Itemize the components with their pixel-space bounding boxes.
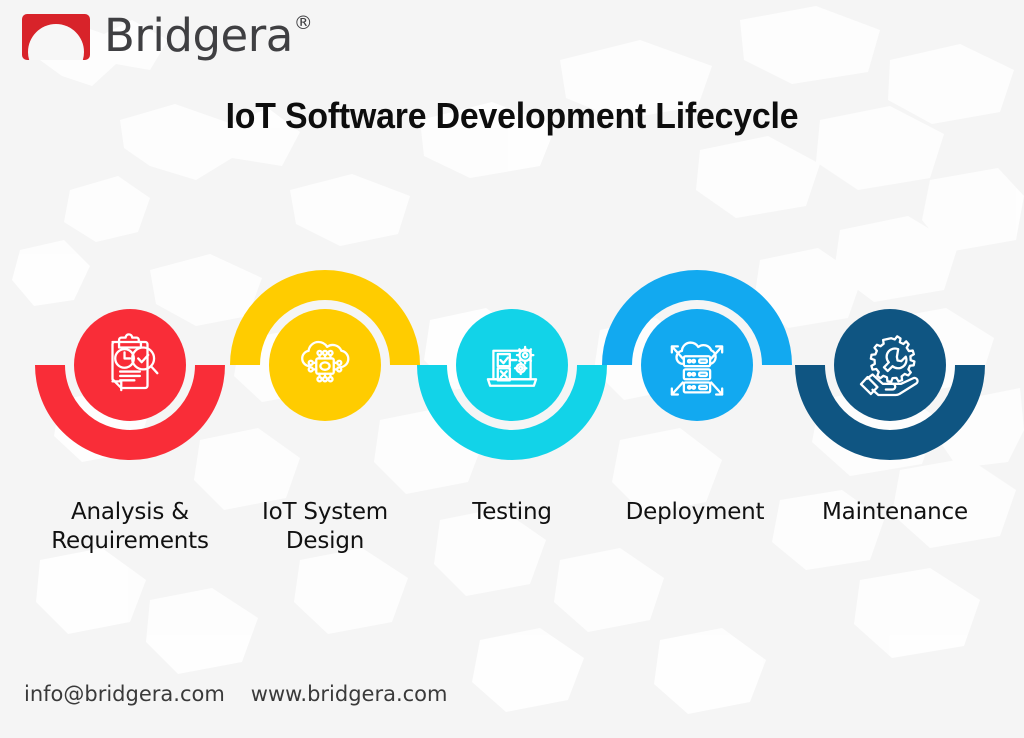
- cloud-server-arrows-icon: [662, 330, 732, 400]
- stage-label-testing-line1: Testing: [432, 498, 592, 527]
- brand-name: Bridgera®: [104, 13, 311, 58]
- stage-label-design-line2: Design: [225, 527, 425, 556]
- registered-trademark-icon: ®: [294, 12, 313, 34]
- stage-node-analysis[interactable]: [74, 309, 186, 421]
- stage-label-deployment-line1: Deployment: [600, 498, 790, 527]
- stage-label-maintenance: Maintenance: [795, 498, 995, 527]
- stage-node-design[interactable]: [269, 309, 381, 421]
- cloud-microchip-icon: [290, 330, 360, 400]
- stage-label-design: IoT System Design: [225, 498, 425, 556]
- stage-label-analysis: Analysis & Requirements: [20, 498, 240, 556]
- hand-gear-wrench-icon: [855, 330, 925, 400]
- stage-icon-layer: [0, 236, 1024, 486]
- footer-contact: info@bridgera.com www.bridgera.com: [24, 682, 447, 706]
- stage-label-deployment: Deployment: [600, 498, 790, 527]
- stage-label-analysis-line1: Analysis &: [20, 498, 240, 527]
- stage-labels: Analysis & Requirements IoT System Desig…: [0, 498, 1024, 578]
- brand-name-text: Bridgera: [104, 9, 293, 62]
- footer-email[interactable]: info@bridgera.com: [24, 682, 225, 706]
- stage-label-testing: Testing: [432, 498, 592, 527]
- brand-header: Bridgera®: [22, 14, 311, 60]
- stage-node-deployment[interactable]: [641, 309, 753, 421]
- stage-label-design-line1: IoT System: [225, 498, 425, 527]
- laptop-checkbox-gears-icon: [477, 330, 547, 400]
- stage-node-maintenance[interactable]: [834, 309, 946, 421]
- stage-label-analysis-line2: Requirements: [20, 527, 240, 556]
- clipboard-clock-magnifier-check-icon: [95, 330, 165, 400]
- bridgera-logo-icon: [22, 14, 90, 60]
- stage-label-maintenance-line1: Maintenance: [795, 498, 995, 527]
- page-title: IoT Software Development Lifecycle: [31, 95, 994, 137]
- stage-node-testing[interactable]: [456, 309, 568, 421]
- footer-website[interactable]: www.bridgera.com: [251, 682, 448, 706]
